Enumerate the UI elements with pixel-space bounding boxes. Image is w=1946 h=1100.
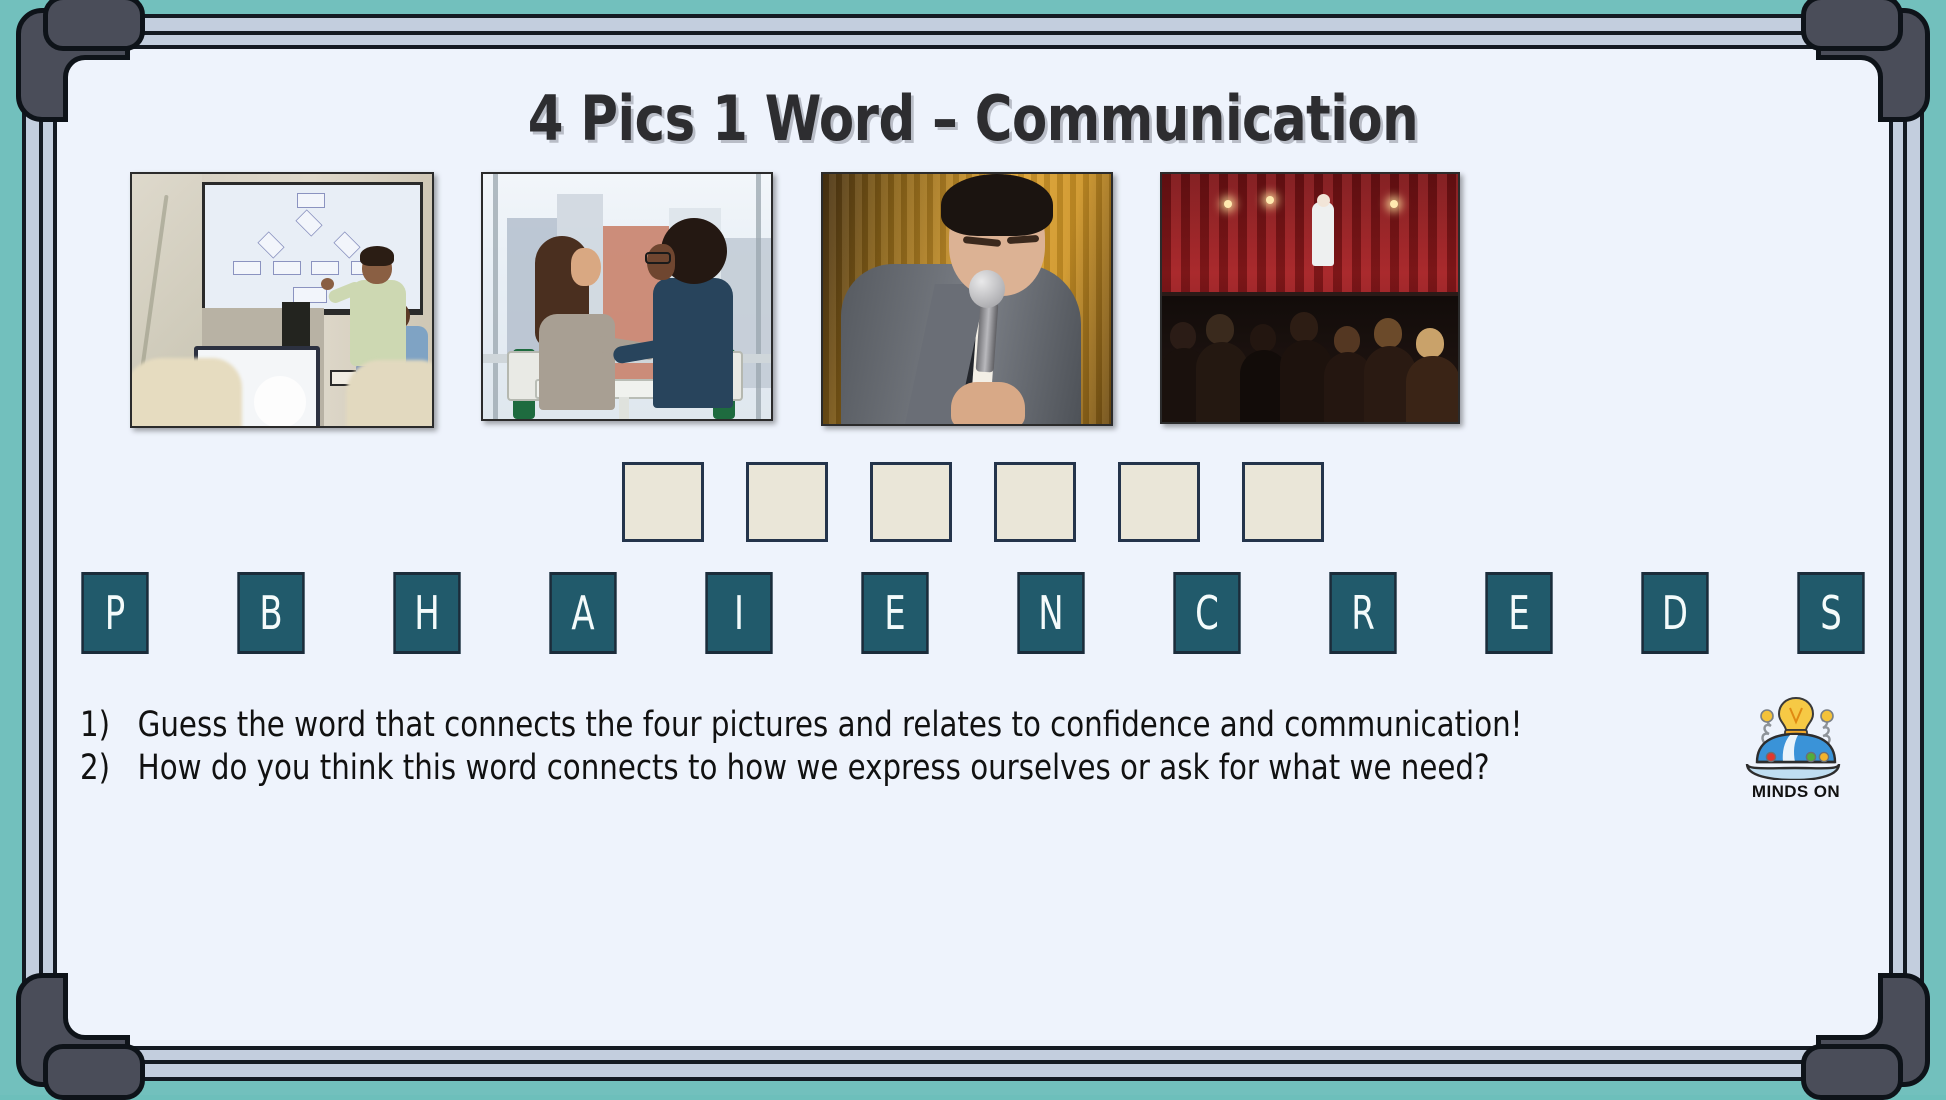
letter-tile[interactable]: B xyxy=(237,572,304,654)
letter-tile[interactable]: C xyxy=(1173,572,1240,654)
question-text: How do you think this word connects to h… xyxy=(138,747,1490,790)
letter-tiles: P B H A I E N C R E D S xyxy=(74,572,1872,654)
answer-box[interactable] xyxy=(746,462,828,542)
question-item-2: 2) How do you think this word connects t… xyxy=(80,747,1401,790)
letter-tile[interactable]: R xyxy=(1329,572,1396,654)
slide-content: 4 Pics 1 Word – Communication xyxy=(60,44,1886,1051)
photo-speaker-on-stage-audience xyxy=(1160,172,1460,424)
minds-on-label: MINDS ON xyxy=(1732,782,1860,802)
corner-bracket-bottom-right xyxy=(1816,973,1930,1087)
letter-tile[interactable]: N xyxy=(1017,572,1084,654)
photo-two-women-conversation-window xyxy=(481,172,773,421)
letter-tile[interactable]: S xyxy=(1797,572,1864,654)
letter-tile[interactable]: E xyxy=(1485,572,1552,654)
photo-classroom-flowchart-presentation xyxy=(130,172,434,428)
letter-tile[interactable]: H xyxy=(393,572,460,654)
letter-tile[interactable]: I xyxy=(705,572,772,654)
answer-box[interactable] xyxy=(994,462,1076,542)
answer-box[interactable] xyxy=(1118,462,1200,542)
thinking-cap-lightbulb-icon xyxy=(1737,694,1855,780)
slide-canvas: 4 Pics 1 Word – Communication xyxy=(0,0,1946,1095)
microphone-icon xyxy=(969,270,1005,308)
question-list: 1) Guess the word that connects the four… xyxy=(80,704,1500,791)
corner-bracket-top-left xyxy=(16,8,130,122)
answer-box[interactable] xyxy=(870,462,952,542)
letter-tile[interactable]: A xyxy=(549,572,616,654)
question-item-1: 1) Guess the word that connects the four… xyxy=(80,704,1401,747)
page-title: 4 Pics 1 Word – Communication xyxy=(133,82,1813,155)
question-text: Guess the word that connects the four pi… xyxy=(138,704,1523,747)
letter-tile[interactable]: P xyxy=(81,572,148,654)
photo-man-with-microphone xyxy=(821,172,1113,426)
photo-strip xyxy=(130,172,1460,432)
question-number: 1) xyxy=(80,704,138,747)
corner-bracket-top-right xyxy=(1816,8,1930,122)
letter-tile[interactable]: E xyxy=(861,572,928,654)
question-number: 2) xyxy=(80,747,138,790)
letter-tile[interactable]: D xyxy=(1641,572,1708,654)
minds-on-logo: MINDS ON xyxy=(1732,694,1860,802)
answer-boxes xyxy=(60,462,1886,542)
answer-box[interactable] xyxy=(622,462,704,542)
answer-box[interactable] xyxy=(1242,462,1324,542)
corner-bracket-bottom-left xyxy=(16,973,130,1087)
